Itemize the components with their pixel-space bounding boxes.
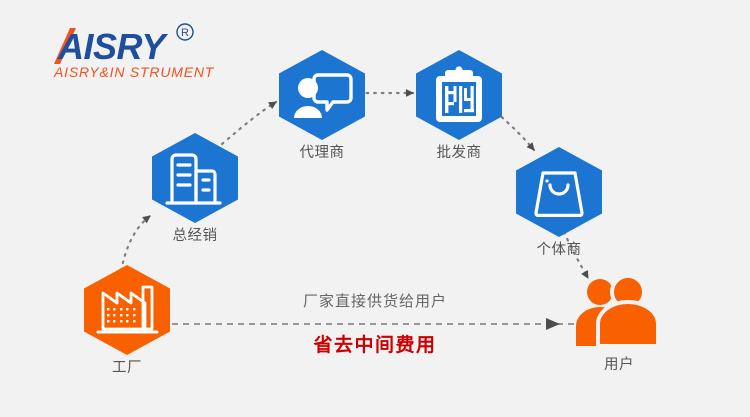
hexagon-shape-agent <box>275 48 369 142</box>
hexagon-shape-wholesaler <box>412 48 506 142</box>
node-label-general-distributor: 总经销 <box>148 228 242 245</box>
save-cost-text: 省去中间费用 <box>0 330 750 357</box>
hexagon-shape-distributor <box>148 131 242 225</box>
direct-supply-text: 厂家直接供货给用户 <box>0 290 750 311</box>
node-factory[interactable]: 工厂 <box>80 263 174 377</box>
node-general-distributor[interactable]: 总经销 <box>148 131 242 245</box>
node-user[interactable]: 用户 <box>564 272 674 374</box>
logo-brand-text: AISRY <box>57 26 168 67</box>
node-agent[interactable]: 代理商 <box>275 48 369 162</box>
node-label-wholesaler: 批发商 <box>412 145 506 162</box>
node-label-user: 用户 <box>564 357 674 374</box>
connector-direct-arrowhead <box>546 318 560 330</box>
logo-tagline-text: AISRY&IN STRUMENT <box>53 64 215 80</box>
svg-text:R: R <box>181 27 189 39</box>
diagram-canvas: AISRY R AISRY&IN STRUMENT <box>0 0 750 417</box>
node-individual-merchant[interactable]: 个体商 <box>512 145 606 259</box>
node-label-agent: 代理商 <box>275 145 369 162</box>
node-wholesaler[interactable]: 批发商 <box>412 48 506 162</box>
node-label-factory: 工厂 <box>80 360 174 377</box>
hexagon-shape-merchant <box>512 145 606 239</box>
aisry-logo: AISRY R AISRY&IN STRUMENT <box>28 22 228 84</box>
node-label-individual-merchant: 个体商 <box>512 242 606 259</box>
